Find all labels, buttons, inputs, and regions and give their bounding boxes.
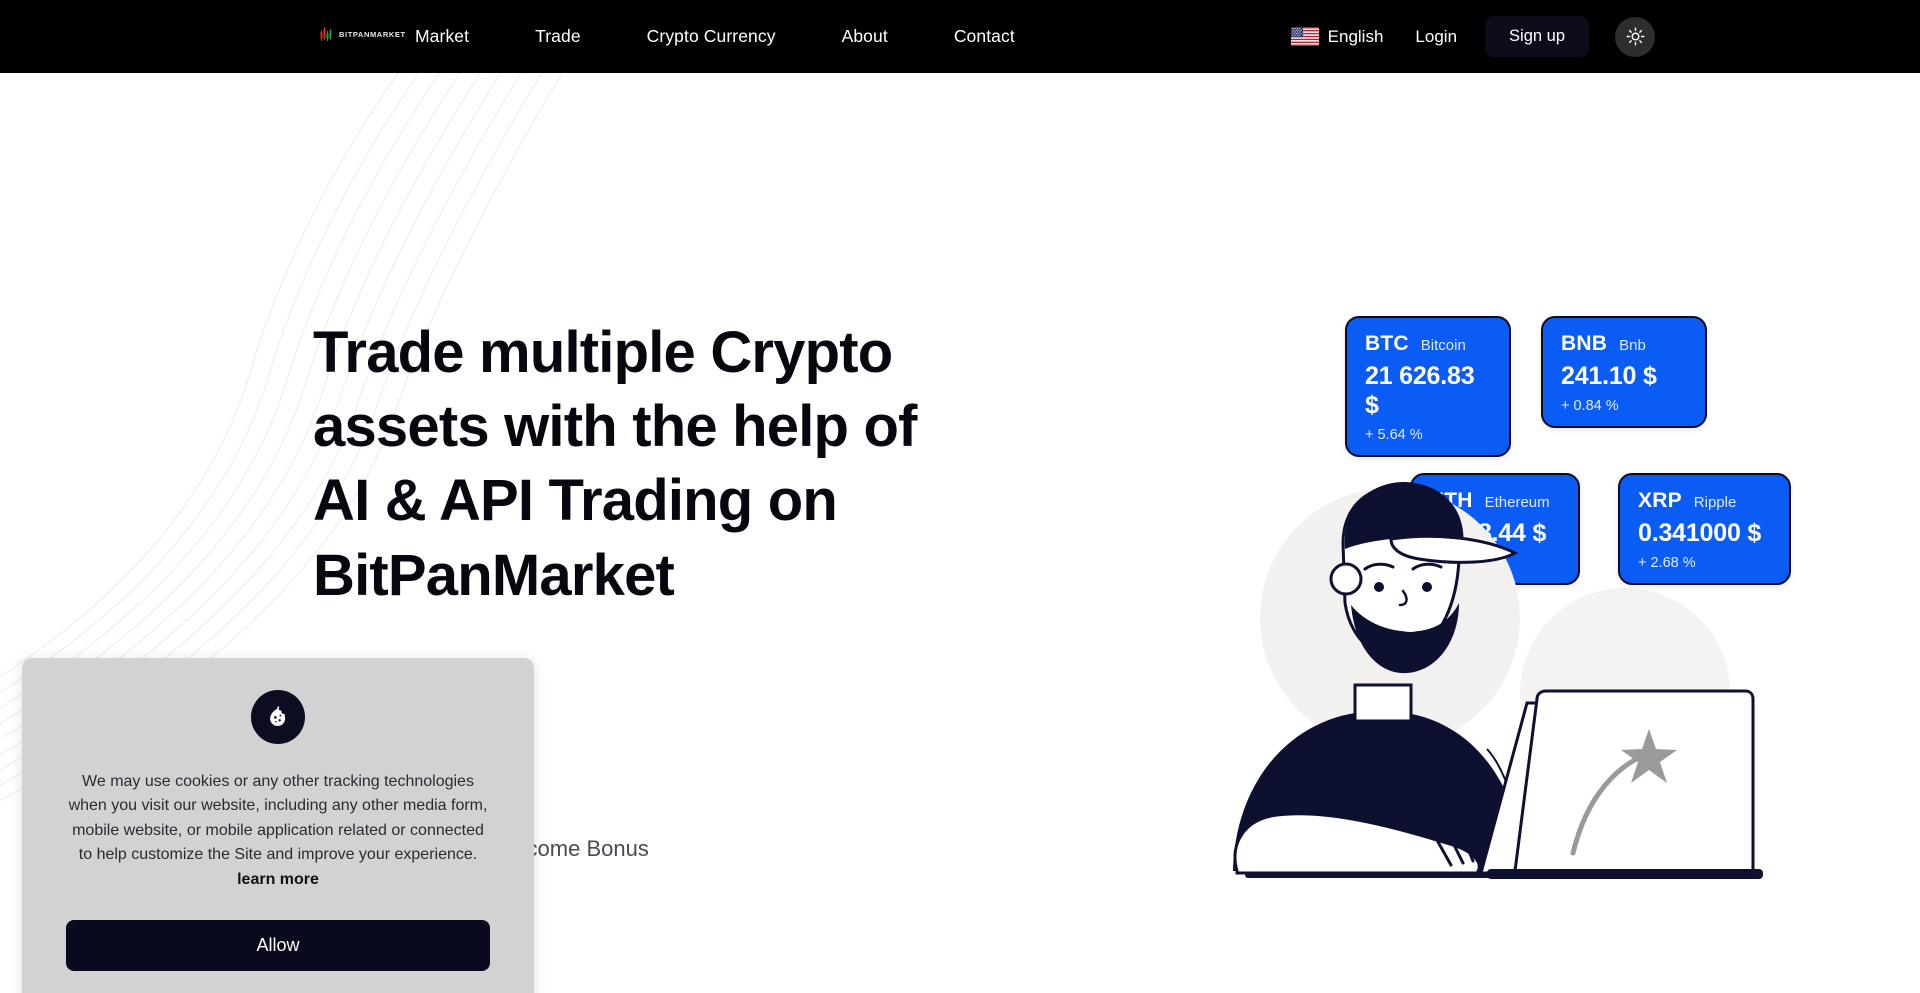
price-card-xrp[interactable]: XRP Ripple 0.341000 $ + 2.68 % [1618, 473, 1791, 585]
logo[interactable]: BITPANMARKET [320, 24, 406, 44]
sun-icon [1626, 27, 1645, 46]
site-header: BITPANMARKET Market Trade Crypto Currenc… [0, 0, 1920, 73]
candlestick-chart-icon [320, 26, 336, 42]
price-card-change: + 2.68 % [1638, 555, 1771, 571]
nav-item-trade[interactable]: Trade [502, 26, 614, 47]
cookie-icon [265, 704, 291, 730]
price-card-change: + 0.84 % [1561, 398, 1687, 414]
login-link[interactable]: Login [1415, 27, 1457, 47]
cookie-body-text: We may use cookies or any other tracking… [66, 770, 490, 892]
price-card-price: 0.341000 $ [1638, 519, 1771, 548]
learn-more-link[interactable]: learn more [237, 871, 319, 888]
cookie-consent-banner: We may use cookies or any other tracking… [22, 658, 534, 993]
cookie-icon-wrapper [251, 690, 305, 744]
price-card-symbol: BNB [1561, 332, 1607, 356]
price-card-change: + 5.64 % [1365, 427, 1491, 443]
price-card-name: Bitcoin [1421, 337, 1466, 354]
cookie-body-main: We may use cookies or any other tracking… [69, 773, 488, 863]
theme-toggle-button[interactable] [1615, 17, 1655, 57]
price-card-name: Ripple [1694, 494, 1737, 511]
us-flag-icon [1291, 27, 1319, 46]
price-card-price: 241.10 $ [1561, 362, 1687, 391]
main-nav: Market Trade Crypto Currency About Conta… [415, 0, 1048, 73]
nav-item-crypto-currency[interactable]: Crypto Currency [614, 26, 809, 47]
price-card-price: 21 626.83 $ [1365, 362, 1491, 420]
price-card-symbol: XRP [1638, 489, 1682, 513]
logo-text: BITPANMARKET [339, 30, 406, 39]
language-label: English [1328, 27, 1384, 47]
allow-button[interactable]: Allow [66, 920, 490, 971]
nav-item-market[interactable]: Market [415, 26, 502, 47]
price-card-name: Bnb [1619, 337, 1646, 354]
nav-item-about[interactable]: About [809, 26, 921, 47]
price-card-bnb[interactable]: BNB Bnb 241.10 $ + 0.84 % [1541, 316, 1707, 428]
nav-item-contact[interactable]: Contact [921, 26, 1048, 47]
language-selector[interactable]: English [1291, 27, 1384, 47]
price-card-symbol: BTC [1365, 332, 1409, 356]
signup-button[interactable]: Sign up [1485, 16, 1589, 57]
price-card-btc[interactable]: BTC Bitcoin 21 626.83 $ + 5.64 % [1345, 316, 1511, 457]
header-actions: English Login Sign up [1291, 0, 1655, 73]
